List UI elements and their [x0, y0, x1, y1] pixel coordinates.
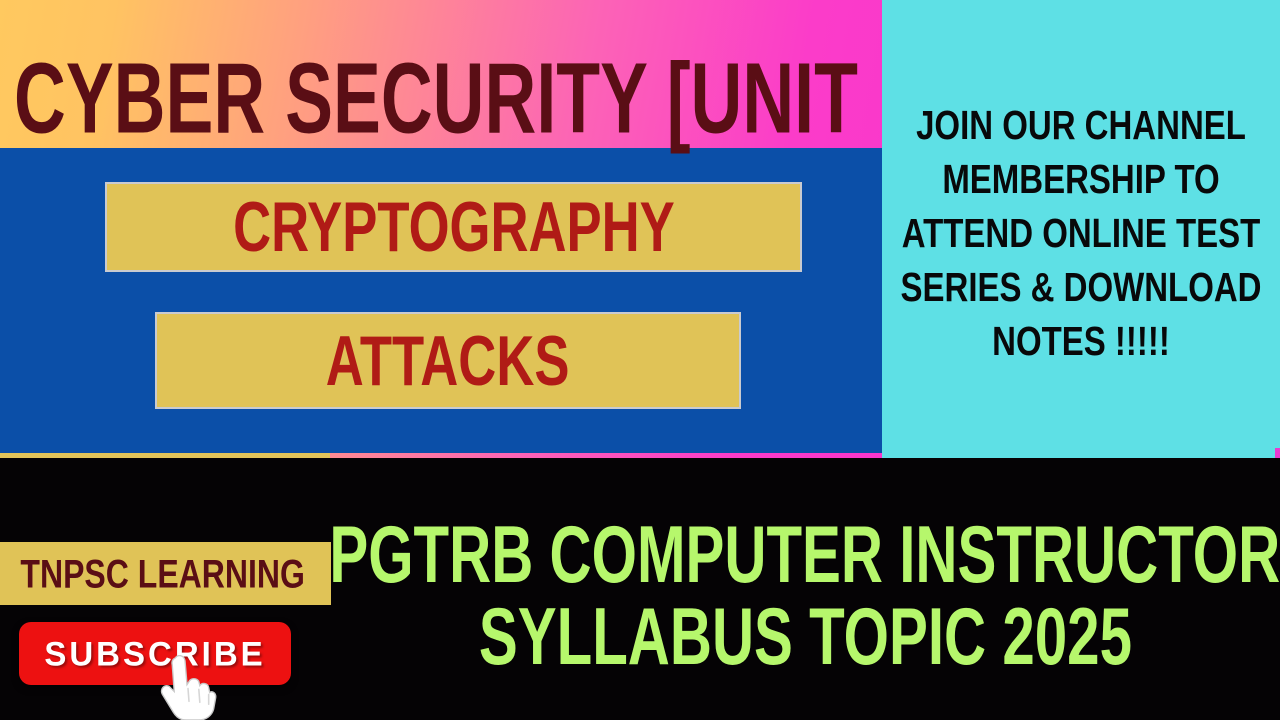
membership-promo-panel: JOIN OUR CHANNEL MEMBERSHIP TO ATTEND ON… — [882, 0, 1280, 458]
page-title: CYBER SECURITY [UNIT 10] — [14, 48, 874, 148]
promo-line-2: MEMBERSHIP TO — [897, 153, 1266, 207]
membership-promo-text: JOIN OUR CHANNEL MEMBERSHIP TO ATTEND ON… — [897, 99, 1266, 368]
syllabus-headline: PGTRB COMPUTER INSTRUCTOR SYLLABUS TOPIC… — [340, 492, 1270, 702]
promo-line-3: ATTEND ONLINE TEST — [897, 207, 1266, 261]
promo-line-4: SERIES & DOWNLOAD — [897, 261, 1266, 315]
topic-label-attacks: ATTACKS — [326, 325, 570, 396]
channel-name-label: TNPSC LEARNING — [20, 554, 305, 594]
topic-box-attacks: ATTACKS — [155, 312, 741, 409]
subscribe-button-label: SUBSCRIBE — [44, 636, 265, 671]
thumbnail-canvas: CYBER SECURITY [UNIT 10] CRYPTOGRAPHY AT… — [0, 0, 1280, 720]
channel-name-box: TNPSC LEARNING — [0, 542, 331, 605]
subscribe-button[interactable]: SUBSCRIBE — [19, 622, 291, 685]
promo-line-5: NOTES !!!!! — [897, 315, 1266, 369]
headline-line-1: PGTRB COMPUTER INSTRUCTOR — [330, 514, 1280, 598]
page-title-text: CYBER SECURITY [UNIT 10] — [14, 48, 982, 148]
promo-line-1: JOIN OUR CHANNEL — [897, 99, 1266, 153]
topic-label-cryptography: CRYPTOGRAPHY — [233, 192, 675, 263]
topic-box-cryptography: CRYPTOGRAPHY — [105, 182, 802, 272]
headline-line-2: SYLLABUS TOPIC 2025 — [478, 596, 1131, 680]
